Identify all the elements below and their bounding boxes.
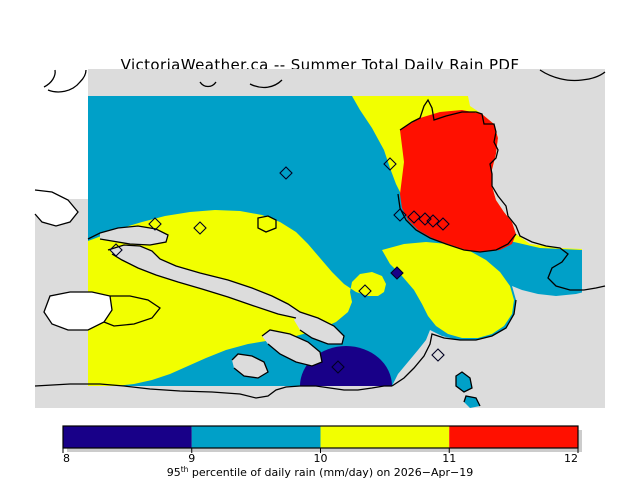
colorbar-band-cyan <box>192 426 321 448</box>
colorbar-caption: 95th percentile of daily rain (mm/day) o… <box>167 465 474 479</box>
colorbar: 8 9 10 11 12 95th percentile of daily ra… <box>0 418 640 480</box>
colorbar-tick-12: 12 <box>564 452 578 465</box>
colorbar-tick-11: 11 <box>442 452 456 465</box>
colorbar-band-navy <box>63 426 192 448</box>
colorbar-band-yellow <box>321 426 450 448</box>
colorbar-tick-8: 8 <box>63 452 70 465</box>
colorbar-tick-9: 9 <box>188 452 195 465</box>
weather-map-figure: VictoriaWeather.ca -- Summer Total Daily… <box>0 0 640 480</box>
colorbar-band-red <box>449 426 578 448</box>
caption-rest: percentile of daily rain (mm/day) on 202… <box>188 466 473 479</box>
colorbar-tick-10: 10 <box>314 452 328 465</box>
rain-contour-map <box>0 0 640 418</box>
caption-prefix: 95 <box>167 466 181 479</box>
